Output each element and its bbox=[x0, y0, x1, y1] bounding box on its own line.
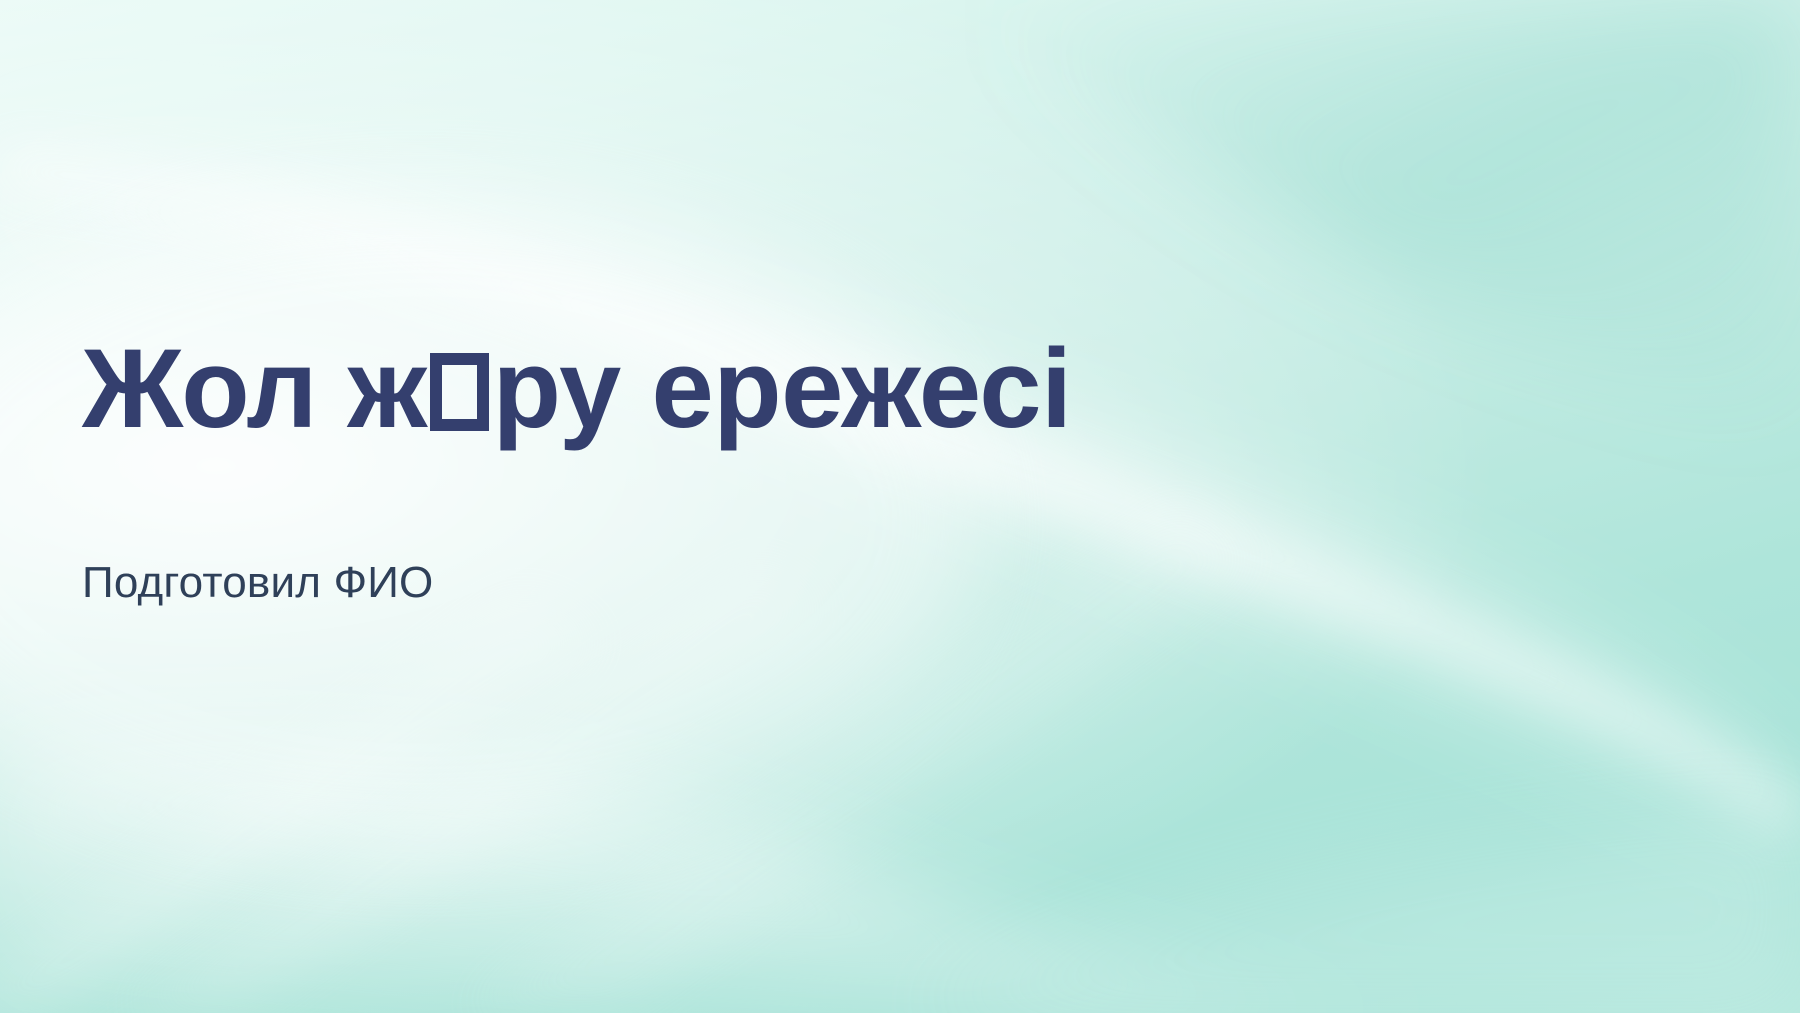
title-slide: Жол жру ережесі Подготовил ФИО bbox=[0, 0, 1800, 1013]
wave-streak-b bbox=[120, 560, 830, 1013]
missing-glyph-box bbox=[430, 353, 488, 431]
wave-band-bottom-right bbox=[900, 800, 1800, 1013]
slide-title-part-after: ру ережесі bbox=[493, 326, 1072, 451]
wave-streak-a bbox=[0, 600, 600, 1013]
slide-text-block: Жол жру ережесі Подготовил ФИО bbox=[82, 330, 1382, 610]
wave-band-bottom bbox=[0, 736, 1800, 1013]
slide-subtitle: Подготовил ФИО bbox=[82, 449, 1382, 610]
slide-title-part-before: Жол ж bbox=[82, 326, 427, 451]
slide-title: Жол жру ережесі bbox=[82, 330, 1382, 449]
